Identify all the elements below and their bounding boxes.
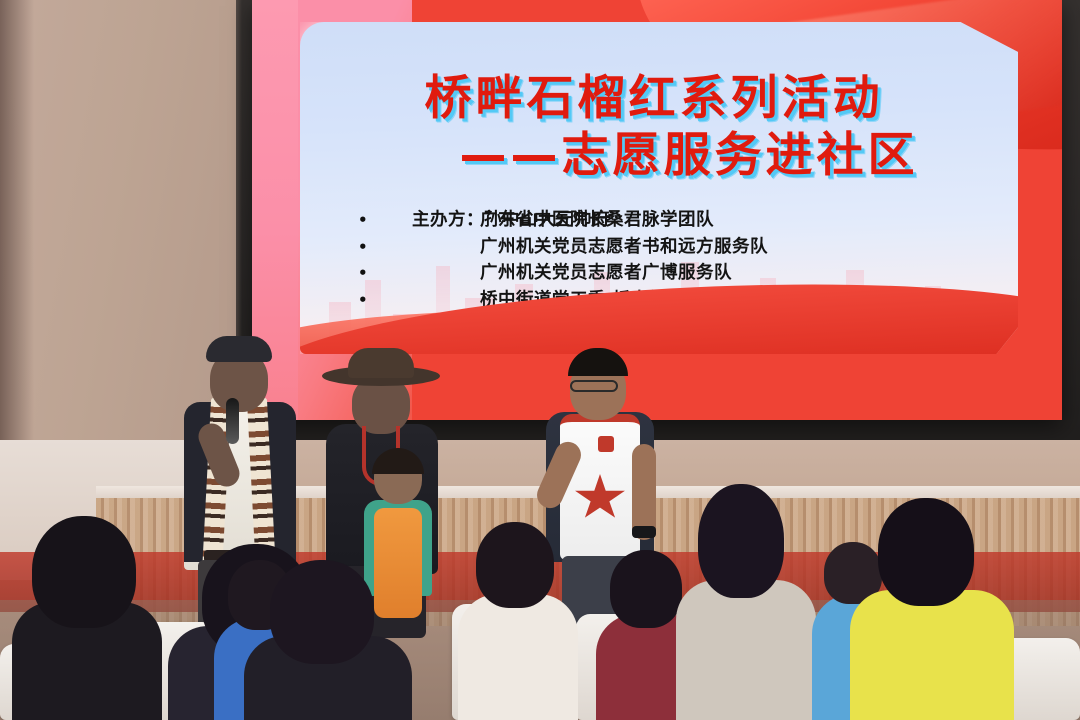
bullet-marker-icon: • [354, 240, 372, 255]
party-emblem-icon [598, 436, 614, 452]
audience-head [270, 560, 374, 664]
fedora-crown-icon [348, 348, 414, 378]
eyeglasses-icon [570, 380, 618, 392]
slide-content-panel: 桥畔石榴红系列活动 ——志愿服务进社区 主办方：孙中山大元帅府 • 广东省中医院… [300, 22, 1018, 354]
audience-body [458, 594, 578, 720]
audience-member [470, 522, 562, 720]
audience-head [698, 484, 784, 598]
audience-head [32, 516, 136, 628]
bullet-row-organizer: 主办方：孙中山大元帅府 [354, 212, 610, 230]
presenter-flat-cap [206, 336, 272, 362]
audience-head [476, 522, 554, 608]
audience-member [866, 498, 986, 720]
child-hair [372, 448, 424, 474]
slide-title-line-2: ——志愿服务进社区 [300, 131, 1008, 182]
microphone-icon [226, 398, 239, 444]
photo-scene: 桥畔石榴红系列活动 ——志愿服务进社区 主办方：孙中山大元帅府 • 广东省中医院… [0, 0, 1080, 720]
presenter-hair [568, 348, 628, 376]
slide-title-line-1: 桥畔石榴红系列活动 [300, 74, 1008, 125]
bullet-row-3: • 广州机关党员志愿者广博服务队 [354, 265, 988, 283]
audience-head [878, 498, 974, 606]
bullet-text: 广州机关党员志愿者广博服务队 [372, 265, 732, 283]
audience-body [850, 590, 1014, 720]
bullet-marker-icon: • [354, 293, 372, 308]
slide-title-block: 桥畔石榴红系列活动 ——志愿服务进社区 [300, 74, 1018, 182]
wristwatch-icon [632, 526, 656, 538]
bullet-text: 主办方：孙中山大元帅府 [372, 212, 610, 230]
bullet-row-2: • 广州机关党员志愿者书和远方服务队 [354, 239, 988, 257]
bullet-text: 广州机关党员志愿者书和远方服务队 [372, 239, 768, 257]
audience-head [610, 550, 682, 628]
bullet-marker-icon: • [354, 266, 372, 281]
audience-member [690, 484, 794, 720]
audience-member [254, 560, 390, 720]
audience-member [18, 516, 146, 720]
wall-left-shadow [0, 0, 34, 460]
audience-body [676, 580, 816, 720]
